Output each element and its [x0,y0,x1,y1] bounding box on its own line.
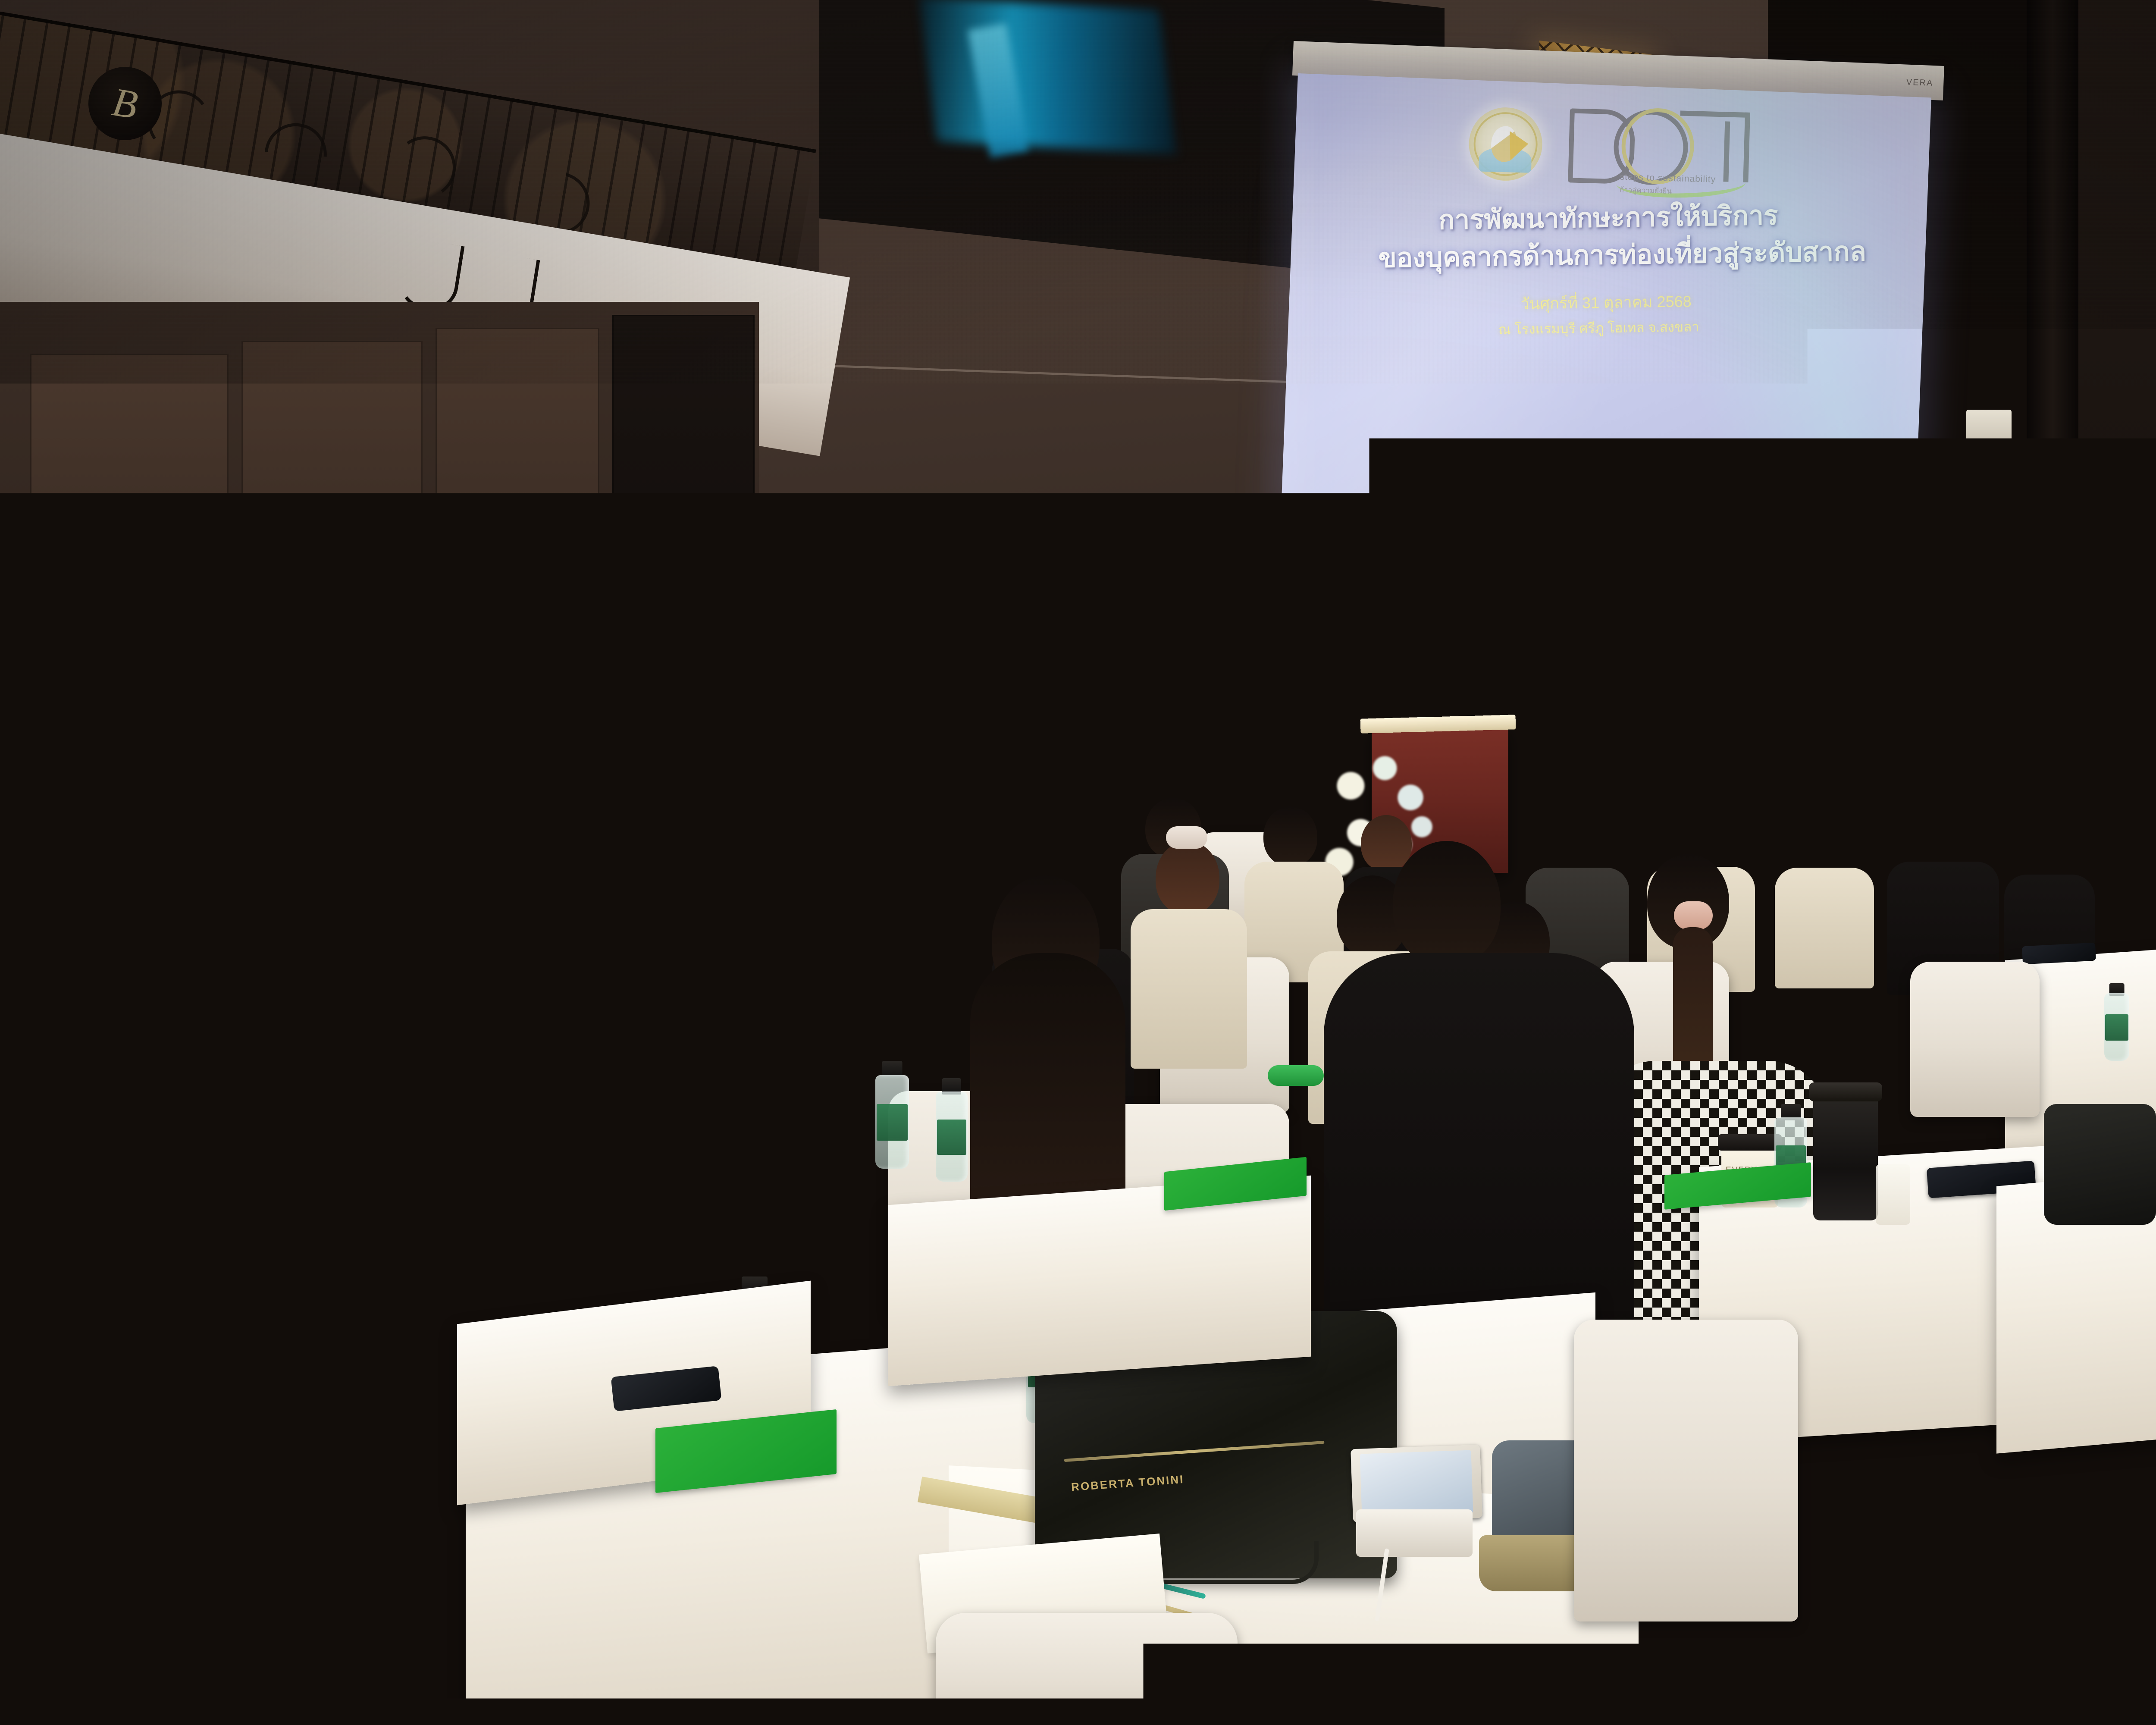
slide-title-line-1: การพัฒนาทักษะการให้บริการ [1438,198,1778,237]
projector-brand-label: VERA [1906,78,1933,88]
coffee-cup-lid [1718,1134,1782,1151]
hair-scrunchie [1166,826,1207,849]
tumbler-lid [1809,1082,1882,1101]
dot-tagline-th: ก้าวสู่ความยั่งยืน [1619,184,1672,197]
dot-tagline-en: steps to sustainability [1620,172,1716,185]
water-bottle [43,1169,77,1276]
cyan-cove-light [919,0,1176,154]
wall-control-plate [1966,410,2012,464]
ceiling-spotlight [496,517,507,529]
microphone-grip [2152,809,2156,824]
conference-hall-photo: B VERA steps to sust [0,0,2156,1725]
water-bottle [319,1251,358,1376]
slide-content: steps to sustainability ก้าวสู่ความยั่งย… [1282,76,1929,581]
bag-brand-label: ROBERTA TONINI [1071,1473,1185,1494]
travel-tumbler [1813,1091,1878,1220]
ponytail [1673,927,1713,1082]
water-bottle [875,1061,909,1169]
shirt-text: AM [2062,1018,2087,1035]
drinking-straw [116,1104,122,1182]
second-row-table [888,1176,1311,1386]
power-bank [1356,1509,1473,1557]
polo-chest-logo: ZONE PHUKET [95,1104,157,1141]
slide-title-line-2: ของบุคลากรด้านการท่องเที่ยวสู่ระดับสากล [1378,235,1866,276]
hands [34,1479,164,1574]
slide-venue-line: ณ โรงแรมบุรี ศรีภู โฮเทล จ.สงขลา [1498,317,1699,340]
water-bottle [936,1078,968,1182]
hair-scrunchie [1674,901,1713,930]
dot-logo-icon: steps to sustainability ก้าวสู่ความยั่งย… [1565,105,1753,192]
tissue-wad [1876,1164,1910,1225]
slide-logo-row: steps to sustainability ก้าวสู่ความยั่งย… [1468,102,1753,192]
video-camera-body [664,668,757,720]
department-of-tourism-seal-icon [1468,107,1543,182]
monogram-letter: B [109,78,141,129]
projection-screen: steps to sustainability ก้าวสู่ความยั่งย… [1279,73,1931,585]
slide-date-line: วันศุกร์ที่ 31 ตุลาคม 2568 [1520,290,1692,316]
green-item [1268,1065,1324,1086]
polo-logo-zone: ZONE [95,1104,157,1127]
ceiling-spotlight [530,518,542,530]
handbag [2044,1104,2156,1225]
camera-lens [750,679,806,719]
pa-speaker-box [0,621,58,703]
